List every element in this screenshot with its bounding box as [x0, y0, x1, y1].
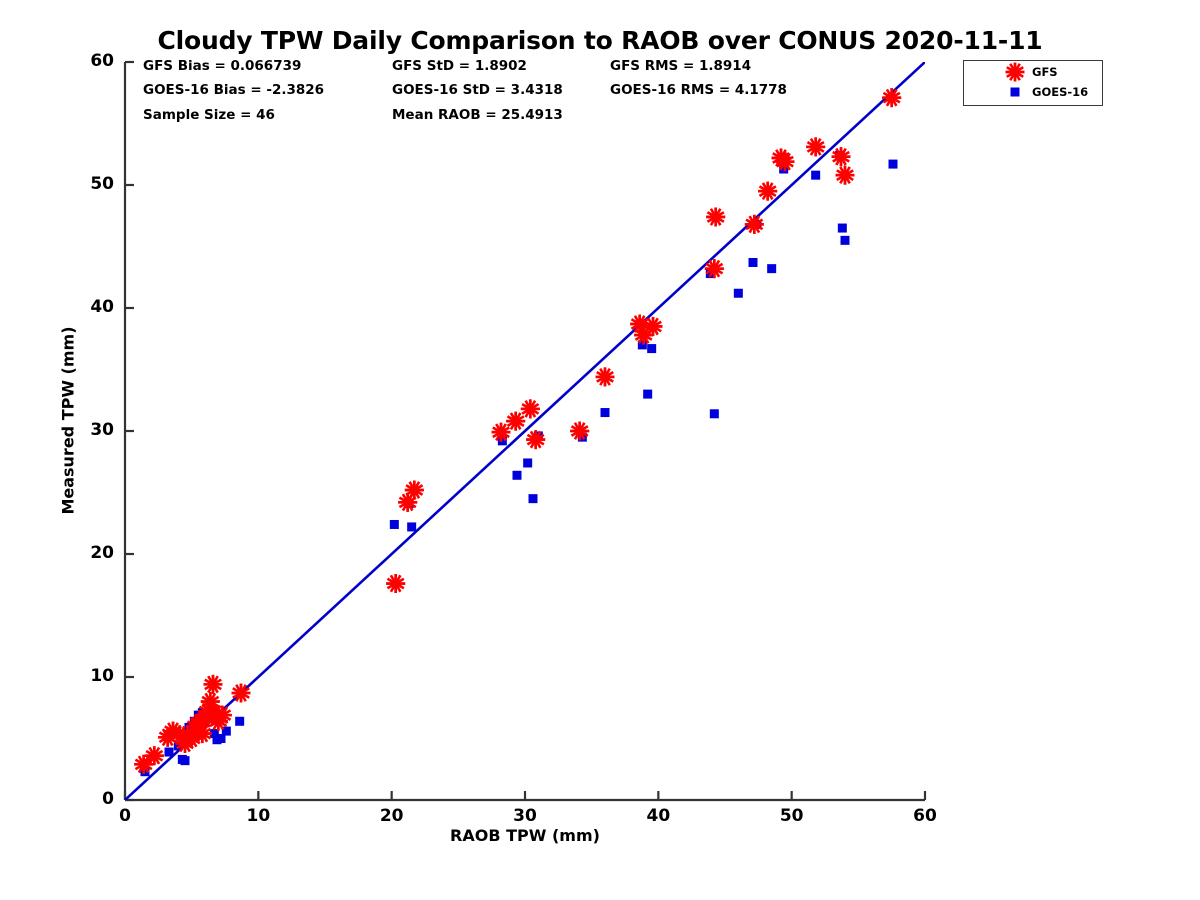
one-to-one-reference-line [125, 44, 945, 800]
data-point [706, 207, 725, 226]
data-point [841, 236, 850, 245]
data-point [889, 160, 898, 169]
y-tick-label: 10 [68, 666, 114, 686]
y-tick-label: 50 [68, 174, 114, 194]
data-point [390, 520, 399, 529]
x-tick-label: 40 [635, 806, 681, 826]
data-point [165, 748, 174, 757]
data-point [836, 166, 855, 185]
data-point [523, 458, 532, 467]
y-tick-label: 60 [68, 51, 114, 71]
legend-asterisk-icon [1002, 62, 1028, 82]
x-tick-label: 30 [502, 806, 548, 826]
legend-square-icon [1002, 82, 1028, 102]
data-point [407, 522, 416, 531]
data-point [882, 88, 901, 107]
scatter-plot-canvas [0, 0, 1200, 900]
data-point [643, 390, 652, 399]
data-point [513, 471, 522, 480]
data-point [758, 182, 777, 201]
y-tick-label: 0 [68, 789, 114, 809]
data-point [749, 258, 758, 267]
data-point [181, 756, 190, 765]
data-point [601, 408, 610, 417]
x-tick-label: 50 [769, 806, 815, 826]
chart-legend[interactable]: GFSGOES-16 [963, 60, 1103, 106]
data-point [745, 215, 764, 234]
legend-label: GFS [1032, 65, 1058, 79]
data-point [838, 224, 847, 233]
x-axis-label: RAOB TPW (mm) [125, 826, 925, 845]
data-point [386, 574, 405, 593]
data-point [767, 264, 776, 273]
data-point [235, 717, 244, 726]
legend-label: GOES-16 [1032, 85, 1088, 99]
data-point [832, 147, 851, 166]
legend-entry-gfs[interactable]: GFS [1002, 63, 1058, 81]
data-point [710, 409, 719, 418]
data-point [647, 344, 656, 353]
data-point [529, 494, 538, 503]
x-tick-label: 20 [369, 806, 415, 826]
chart-figure: Cloudy TPW Daily Comparison to RAOB over… [0, 0, 1200, 900]
legend-entry-goes-16[interactable]: GOES-16 [1002, 83, 1088, 101]
data-point [811, 171, 820, 180]
x-tick-label: 10 [235, 806, 281, 826]
x-tick-label: 60 [902, 806, 948, 826]
data-point [521, 399, 540, 418]
data-point [596, 367, 615, 386]
data-point [204, 675, 223, 694]
x-tick-label: 0 [102, 806, 148, 826]
data-point [734, 289, 743, 298]
y-axis-label: Measured TPW (mm) [59, 291, 78, 551]
data-point [806, 137, 825, 156]
